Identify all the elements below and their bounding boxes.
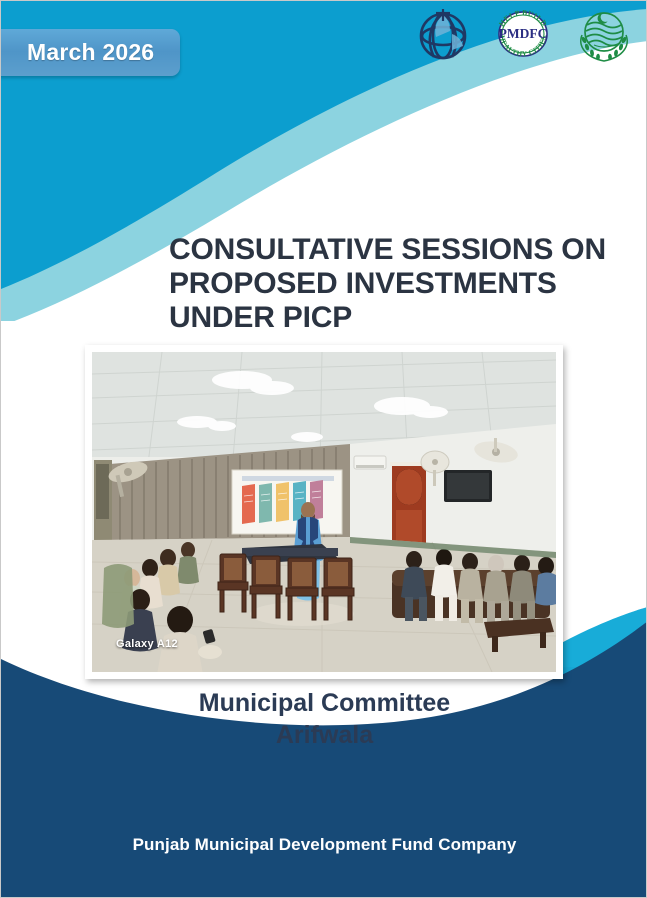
pmdfc-logo-icon: HELP BUILD HEALTHY CITIES PMDFC: [492, 5, 554, 68]
title-line-2: PROPOSED INVESTMENTS: [169, 267, 639, 301]
page-title: CONSULTATIVE SESSIONS ON PROPOSED INVEST…: [169, 233, 639, 335]
svg-text:PMDFC: PMDFC: [499, 26, 548, 41]
government-of-punjab-emblem-icon: [572, 5, 636, 72]
title-line-1: CONSULTATIVE SESSIONS ON: [169, 233, 639, 267]
consultative-session-photo: Galaxy A12: [85, 345, 563, 679]
footer-organization-label: Punjab Municipal Development Fund Compan…: [1, 835, 647, 855]
world-bank-globe-icon: [412, 5, 474, 72]
logo-row: HELP BUILD HEALTHY CITIES PMDFC: [412, 5, 636, 72]
subtitle: Municipal Committee Arifwala: [1, 687, 647, 751]
date-badge-label: March 2026: [27, 39, 154, 66]
photo-image: Galaxy A12: [92, 352, 556, 672]
document-cover-page: March 2026: [0, 0, 647, 898]
subtitle-line-1: Municipal Committee: [1, 687, 647, 719]
photo-watermark: Galaxy A12: [116, 638, 178, 650]
date-badge: March 2026: [0, 29, 180, 76]
title-line-3: UNDER PICP: [169, 301, 639, 335]
subtitle-line-2: Arifwala: [1, 719, 647, 751]
